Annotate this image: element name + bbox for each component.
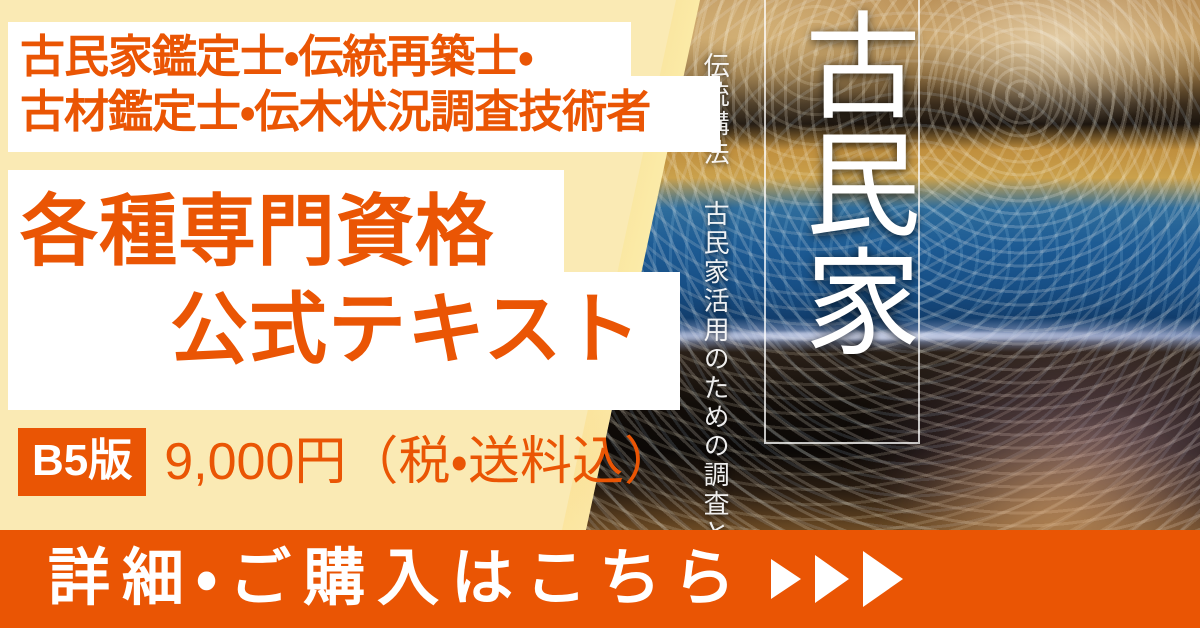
headline-line-1: 古民家鑑定士・伝統再築士・ — [20, 30, 720, 85]
triangle-right-icon — [863, 551, 903, 607]
book-cover-title: 古民家 — [768, 6, 918, 360]
page-title: 各種専門資格 公式テキスト — [20, 182, 680, 379]
price-amount: 9,000円（税・送料込） — [164, 436, 676, 488]
triangle-right-icon — [771, 559, 801, 599]
page-title-line-2: 公式テキスト — [20, 280, 680, 378]
headline: 古民家鑑定士・伝統再築士・ 古材鑑定士・伝木状況調査技術者 — [20, 30, 720, 140]
cta-label: 詳細・ご購入はこちら — [48, 548, 747, 610]
format-badge: B5版 — [18, 428, 146, 496]
cta-arrow-group — [771, 551, 903, 607]
promotional-banner: 伝統構法 古民家活用のための調査と再生の 古民家 古民家鑑定士・伝統再築士・ 古… — [0, 0, 1200, 628]
triangle-right-icon — [815, 555, 849, 603]
page-title-line-1: 各種専門資格 — [20, 182, 680, 280]
headline-line-2: 古材鑑定士・伝木状況調査技術者 — [20, 85, 720, 140]
cta-button[interactable]: 詳細・ご購入はこちら — [0, 530, 1200, 628]
price-row: B5版 9,000円（税・送料込） — [18, 428, 676, 496]
